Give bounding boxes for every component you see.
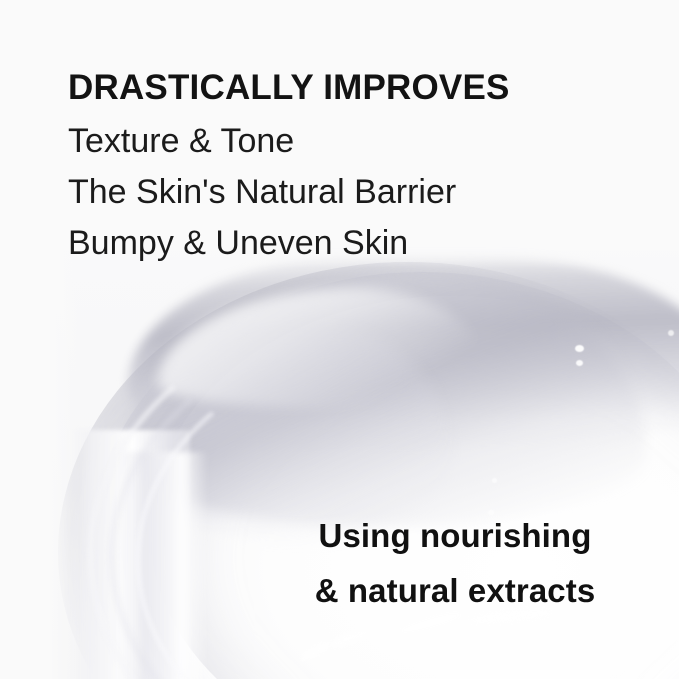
headline: DRASTICALLY IMPROVES bbox=[68, 66, 648, 110]
product-benefit-poster: DRASTICALLY IMPROVES Texture & Tone The … bbox=[0, 0, 679, 679]
ingredient-callout-block: Using nourishing & natural extracts bbox=[255, 508, 655, 618]
cream-bubble bbox=[668, 330, 674, 336]
cream-bubble bbox=[575, 345, 584, 352]
cream-bubble bbox=[576, 360, 583, 366]
benefit-line-3: Bumpy & Uneven Skin bbox=[68, 218, 648, 269]
benefit-line-1: Texture & Tone bbox=[68, 116, 648, 167]
benefit-line-2: The Skin's Natural Barrier bbox=[68, 167, 648, 218]
cream-bubble bbox=[492, 478, 497, 483]
ingredient-callout-line-2: & natural extracts bbox=[255, 563, 655, 618]
benefit-text-block: DRASTICALLY IMPROVES Texture & Tone The … bbox=[68, 66, 648, 269]
ingredient-callout-line-1: Using nourishing bbox=[255, 508, 655, 563]
